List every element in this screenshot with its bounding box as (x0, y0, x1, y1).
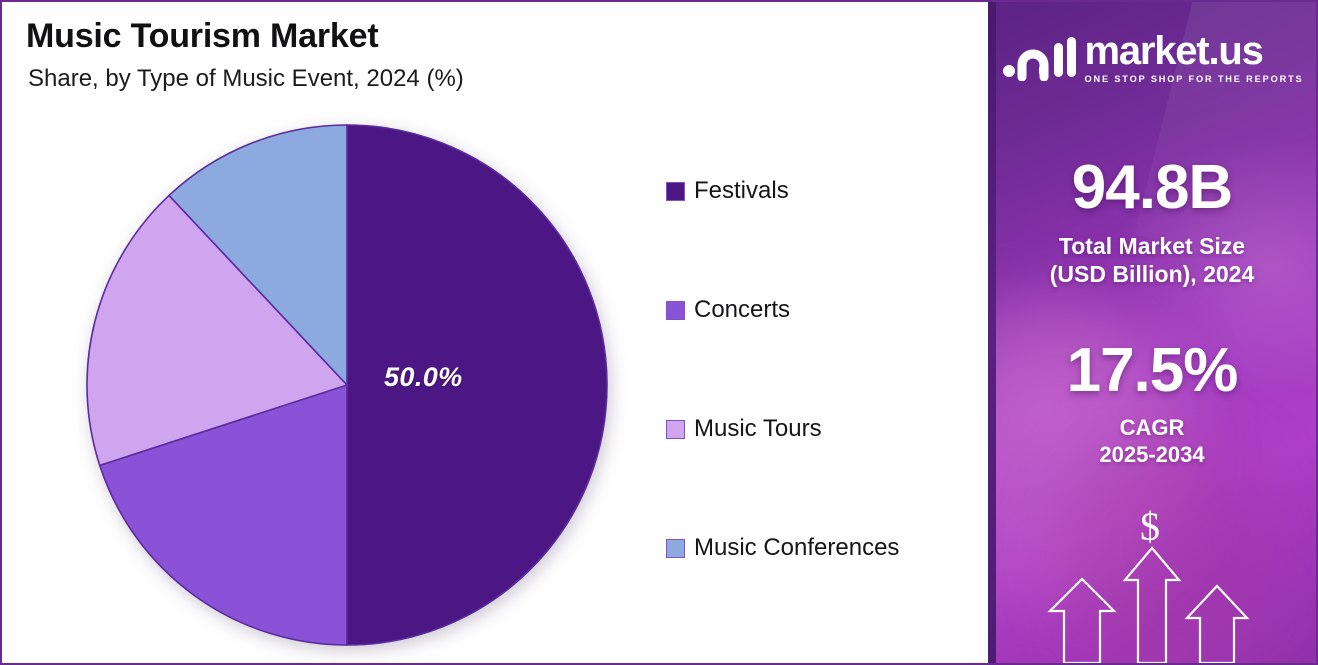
stat-label-market-size-line1: Total Market Size (1059, 233, 1245, 259)
panel-left-edge-stripe (988, 2, 996, 663)
chart-heading-group: Music Tourism Market Share, by Type of M… (26, 16, 464, 94)
dollar-sign-icon: $ (1140, 504, 1160, 549)
music-tourism-market-infographic: Music Tourism Market Share, by Type of M… (0, 0, 1318, 665)
page-title: Music Tourism Market (26, 16, 464, 56)
legend-item-concerts[interactable]: Concerts (666, 293, 976, 327)
market-us-logo-icon (1000, 35, 1076, 81)
legend-swatch-icon (666, 539, 685, 558)
chart-panel: Music Tourism Market Share, by Type of M… (0, 0, 988, 665)
legend-label: Music Conferences (694, 536, 899, 560)
legend-item-festivals[interactable]: Festivals (666, 174, 976, 208)
arrow-up-left-icon (1050, 579, 1114, 663)
arrow-up-center-icon (1125, 548, 1179, 663)
legend-swatch-icon (666, 420, 685, 439)
stat-label-cagr-line2: 2025-2034 (1099, 442, 1204, 467)
stat-cagr: 17.5% CAGR 2025-2034 (988, 340, 1316, 469)
stats-panel: market.us ONE STOP SHOP FOR THE REPORTS … (988, 0, 1318, 665)
stat-label-cagr: CAGR 2025-2034 (988, 415, 1316, 469)
legend-item-music-conferences[interactable]: Music Conferences (666, 531, 976, 565)
brand-text-group: market.us ONE STOP SHOP FOR THE REPORTS (1084, 32, 1303, 84)
pie-chart: 50.0% (84, 122, 610, 648)
legend-label: Festivals (694, 179, 789, 203)
stat-label-cagr-line1: CAGR (1120, 415, 1185, 440)
legend-label: Music Tours (694, 417, 822, 441)
legend-item-music-tours[interactable]: Music Tours (666, 412, 976, 446)
arrow-up-right-icon (1187, 586, 1247, 663)
stat-value-market-size: 94.8B (988, 157, 1316, 219)
brand-name: market.us (1084, 32, 1303, 70)
pie-slice-label-festivals: 50.0% (384, 362, 463, 393)
brand-logo[interactable]: market.us ONE STOP SHOP FOR THE REPORTS (988, 32, 1316, 84)
growth-arrows-icon: $ (1032, 498, 1272, 663)
stat-label-market-size-line2: (USD Billion), 2024 (1050, 261, 1254, 287)
legend-label: Concerts (694, 298, 790, 322)
pie-chart-svg (84, 122, 610, 648)
page-subtitle: Share, by Type of Music Event, 2024 (%) (28, 65, 464, 94)
stat-total-market-size: 94.8B Total Market Size (USD Billion), 2… (988, 157, 1316, 288)
chart-legend: FestivalsConcertsMusic ToursMusic Confer… (666, 174, 976, 565)
legend-swatch-icon (666, 182, 685, 201)
stat-label-market-size: Total Market Size (USD Billion), 2024 (988, 232, 1316, 288)
legend-swatch-icon (666, 301, 685, 320)
brand-tagline: ONE STOP SHOP FOR THE REPORTS (1084, 74, 1303, 84)
stat-value-cagr: 17.5% (988, 340, 1316, 402)
